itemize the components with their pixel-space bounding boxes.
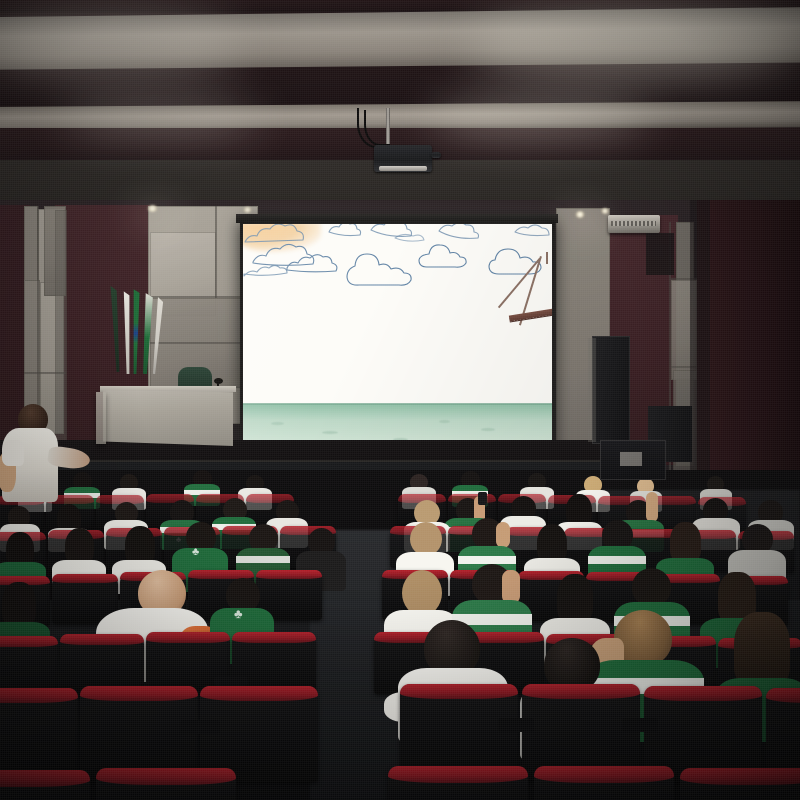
shirt-sleeve (2, 440, 24, 466)
uniform-stripe (588, 556, 646, 564)
drawing-grass-tuft-1 (271, 422, 284, 425)
drawing-grass-tuft-4 (439, 420, 450, 423)
head-long-hair (734, 612, 790, 688)
arm (502, 570, 520, 604)
ceiling-spotlight-mid (243, 207, 252, 213)
head (226, 578, 260, 612)
armrest (498, 718, 534, 732)
seat[interactable] (534, 766, 674, 800)
equipment-label (620, 452, 642, 466)
audience-area: ♣ (0, 470, 800, 800)
air-conditioner-recess (646, 233, 674, 275)
back-wall-groove-2 (215, 206, 217, 298)
drawing-horizon-line (243, 403, 552, 405)
ceiling (0, 0, 800, 215)
right-wall-dark-drape (697, 200, 800, 500)
left-panel-groove-2 (24, 372, 66, 374)
auditorium-photo: ♣ (0, 0, 800, 800)
right-wall-shadow (690, 200, 710, 500)
seat[interactable] (680, 768, 800, 800)
podium-table[interactable] (103, 390, 233, 446)
drawing-swing-post (546, 252, 548, 264)
head (632, 568, 671, 606)
seat[interactable] (96, 768, 236, 800)
uniform-stripe (458, 556, 516, 564)
phone (478, 492, 487, 505)
armrest (180, 720, 220, 734)
uniform-stripe (236, 556, 290, 563)
drawing-grass-tuft-5 (481, 428, 495, 431)
armrest (622, 718, 658, 732)
spotlight-wash-left (124, 198, 184, 232)
drawing-grass-tuft-2 (322, 431, 338, 434)
speaker-upper (592, 336, 630, 444)
ceiling-spotlight-far-right (601, 208, 609, 214)
seat[interactable] (0, 770, 90, 800)
arm-raised (646, 492, 658, 522)
head-bun (410, 522, 442, 556)
uniform-logo: ♣ (192, 548, 199, 556)
armrest (214, 676, 248, 686)
uniform-logo: ♣ (234, 610, 242, 618)
projection-screen[interactable] (243, 224, 552, 469)
arm (496, 522, 510, 548)
seat[interactable] (388, 766, 528, 800)
presenter-standing (0, 404, 100, 514)
projector-lens (379, 166, 427, 171)
drawing-clouds (243, 224, 552, 304)
air-conditioner-vent (611, 221, 656, 226)
speaker-edge-highlight (588, 338, 596, 442)
projector-connector (431, 152, 441, 158)
